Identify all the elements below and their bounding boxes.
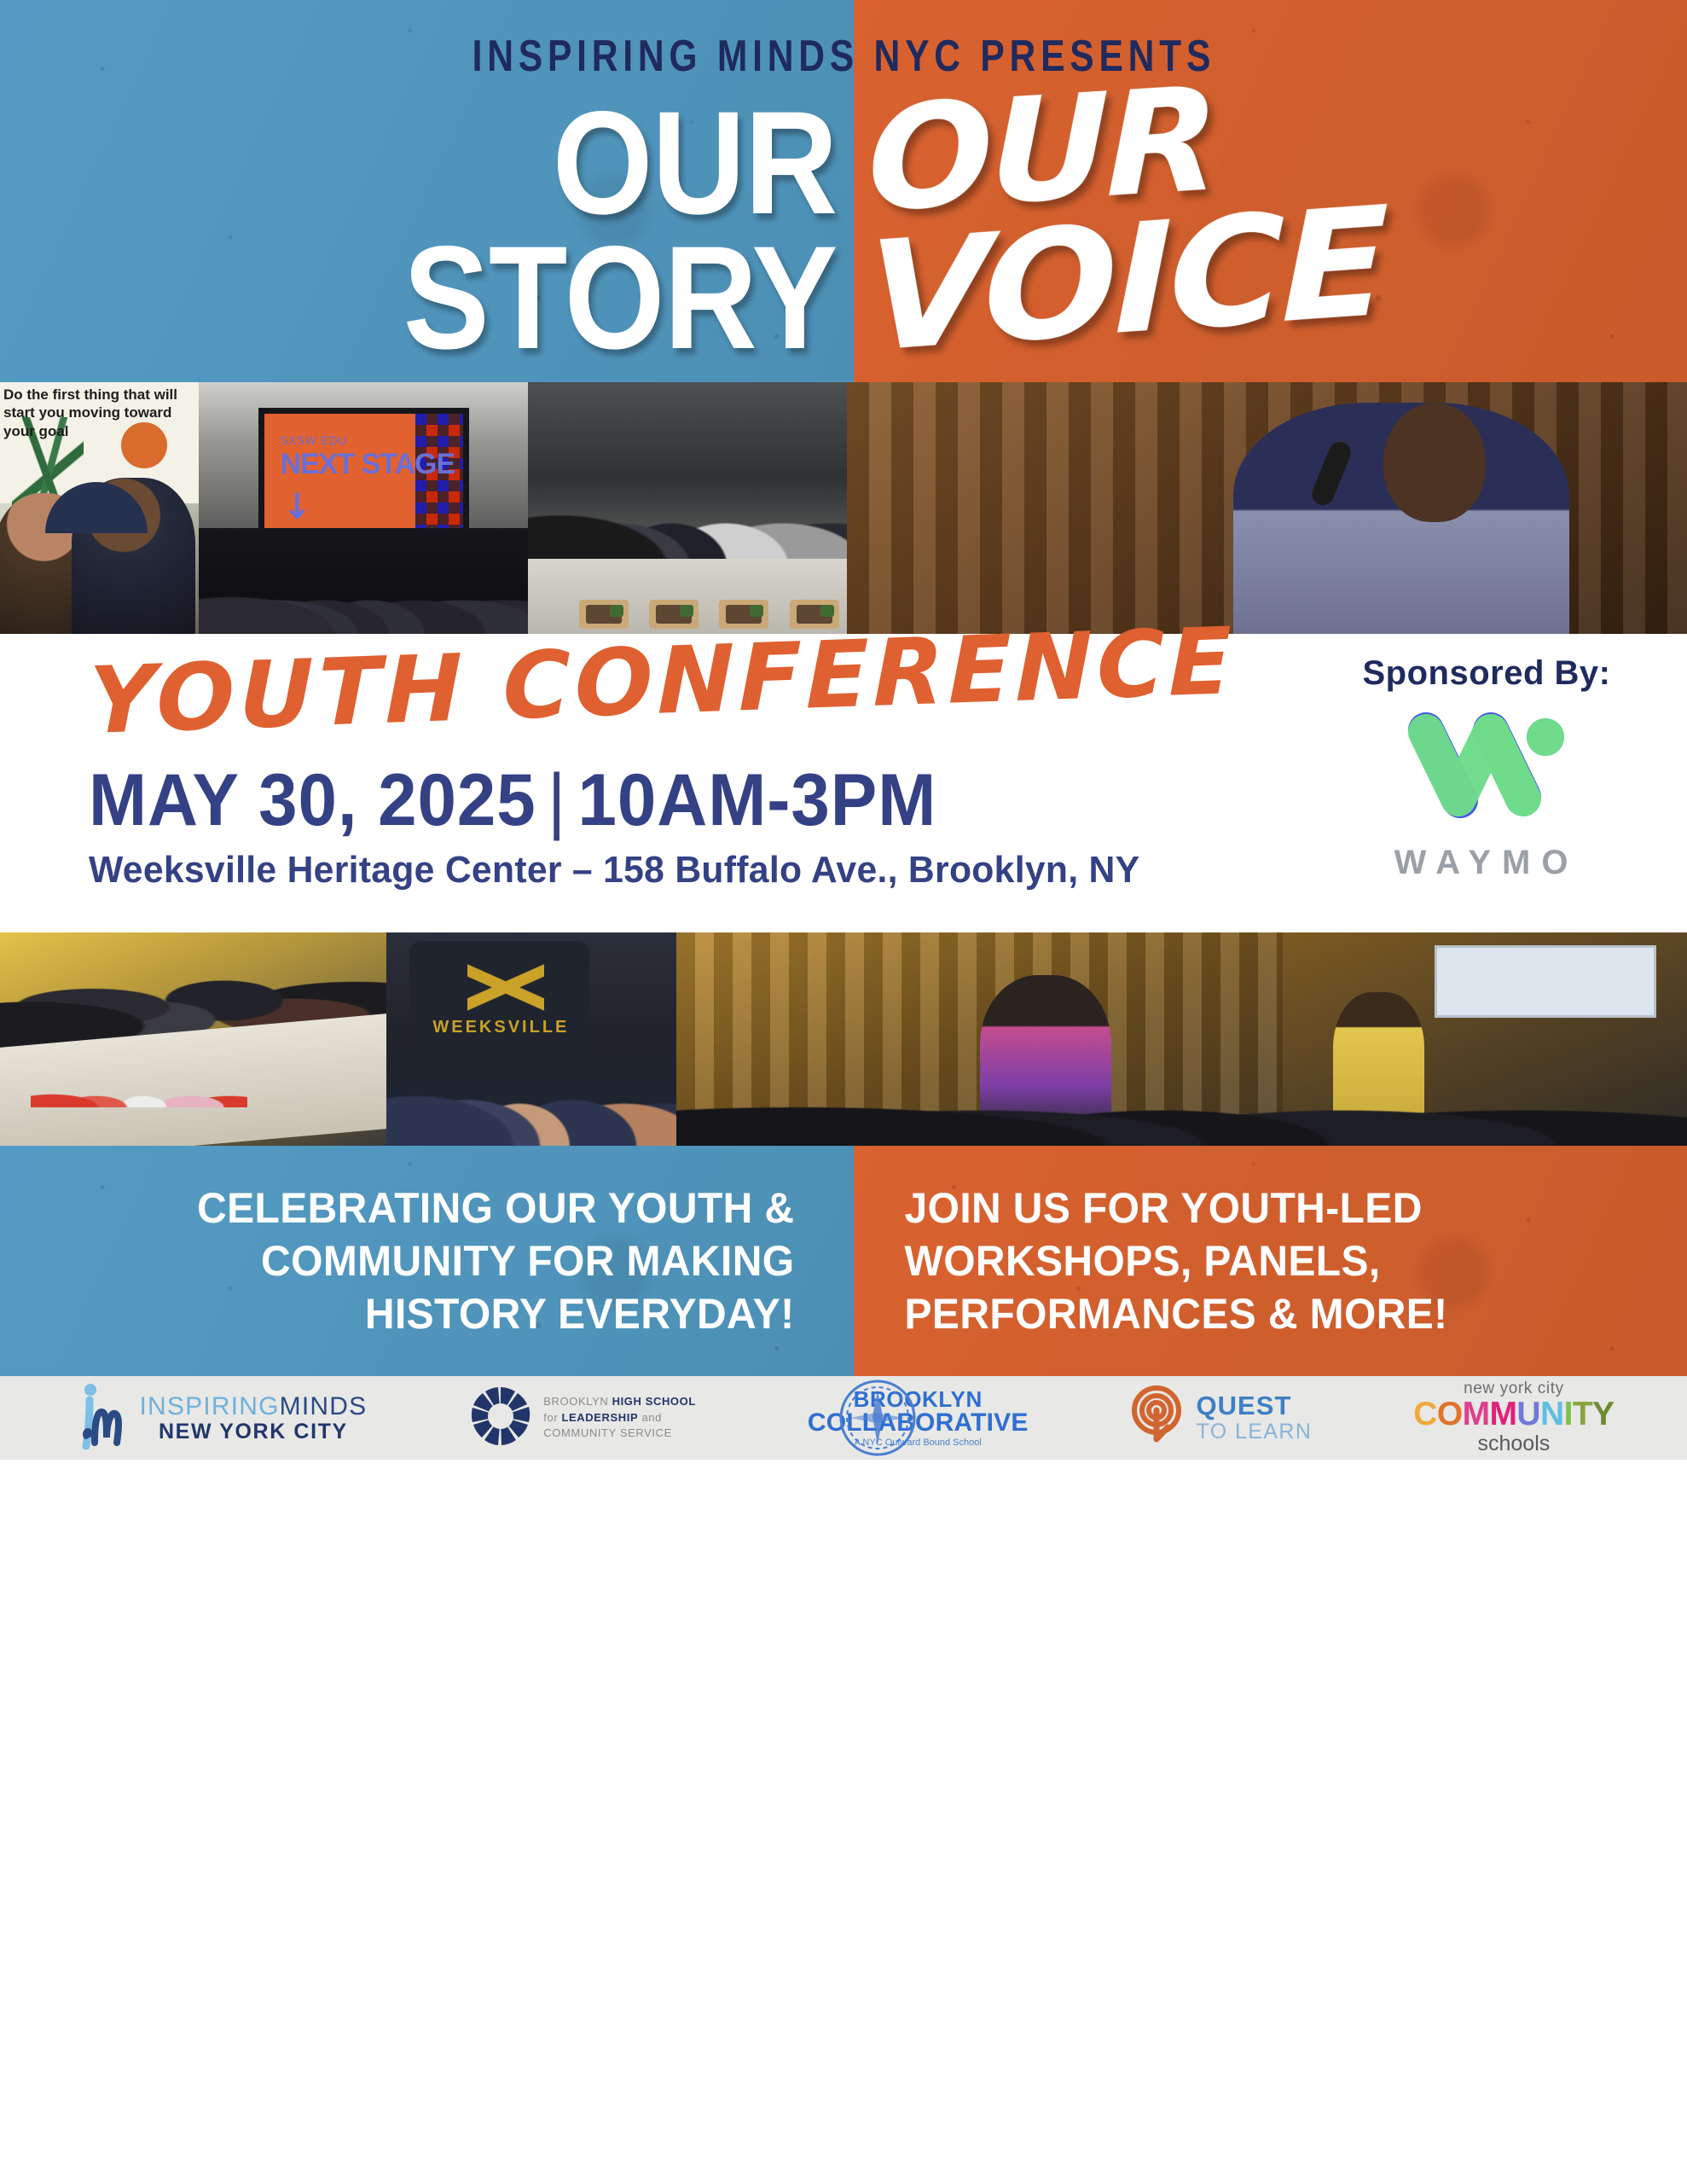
bhs-line2: for LEADERSHIP and — [543, 1410, 696, 1426]
event-time: 10AM-3PM — [577, 759, 936, 841]
bhs-line1: BROOKLYN HIGH SCHOOL — [543, 1394, 696, 1410]
title-row-2: STORY VOICE — [0, 230, 1687, 369]
cta-blue-panel: CELEBRATING OUR YOUTH & COMMUNITY FOR MA… — [0, 1146, 854, 1376]
cta-right-line-2: WORKSHOPS, PANELS, — [904, 1234, 1447, 1287]
poster-title: OUR OUR STORY VOICE — [0, 96, 1687, 369]
cta-banner: CELEBRATING OUR YOUTH & COMMUNITY FOR MA… — [0, 1146, 1687, 1376]
event-details-text: YOUTH CONFERENCE MAY 30, 2025|10AM-3PM W… — [0, 634, 1286, 892]
inspiring-minds-wordmark: INSPIRINGMINDS NEW YORK CITY — [139, 1393, 367, 1443]
photo-culinary-workshop — [528, 382, 847, 634]
sxsw-screen: SXSW EDU NEXT STAGE ↙ — [258, 408, 469, 543]
cta-left-line-1: CELEBRATING OUR YOUTH & — [197, 1182, 794, 1234]
quest-to-learn-spiral-icon — [1130, 1383, 1186, 1454]
food-plate — [579, 600, 629, 629]
bhs-line2-a: for — [543, 1411, 561, 1424]
venue-projector-screen — [1435, 945, 1657, 1018]
photo-strip-top: Do the first thing that will start you m… — [0, 382, 1687, 634]
bhs-line1-a: BROOKLYN — [543, 1395, 612, 1408]
sxsw-edu-label: SXSW EDU — [280, 433, 347, 447]
bhs-line1-b: HIGH SCHOOL — [612, 1395, 696, 1408]
bhs-line2-b: LEADERSHIP — [561, 1411, 638, 1424]
title-story: STORY — [102, 230, 854, 365]
sxsw-arrow-icon: ↙ — [272, 481, 320, 529]
community-schools-wordmark: new york city COMMUNITY schools — [1413, 1380, 1614, 1455]
culinary-participants — [528, 427, 847, 568]
logo-community-schools: new york city COMMUNITY schools — [1413, 1380, 1614, 1455]
q2l-line2: TO LEARN — [1197, 1420, 1313, 1443]
sxsw-group-silhouette — [199, 528, 528, 634]
hero-banner: INSPIRING MINDS NYC PRESENTS OUR OUR STO… — [0, 0, 1687, 382]
cta-right-line-1: JOIN US FOR YOUTH-LED — [904, 1182, 1447, 1234]
date-time-separator: | — [536, 759, 578, 841]
sponsor-block: Sponsored By: WAYMO — [1286, 634, 1687, 882]
cta-left-text: CELEBRATING OUR YOUTH & COMMUNITY FOR MA… — [197, 1182, 854, 1340]
im-line1-a: INSPIRING — [139, 1392, 279, 1420]
hero-text-overlay: INSPIRING MINDS NYC PRESENTS OUR OUR STO… — [0, 0, 1687, 382]
inspiring-minds-line1: INSPIRINGMINDS — [139, 1393, 367, 1420]
culinary-counter — [528, 559, 847, 635]
logo-quest-to-learn: QUEST TO LEARN — [1130, 1383, 1313, 1454]
speaker-head — [1383, 403, 1486, 522]
weeksville-group-people — [386, 1014, 676, 1146]
logo-brooklyn-high-school: BROOKLYN HIGH SCHOOL for LEADERSHIP and … — [468, 1384, 696, 1453]
inspiring-minds-monogram-icon — [72, 1383, 129, 1454]
photo-performance-audience — [676, 932, 1687, 1146]
photo-students-peace-sign: Do the first thing that will start you m… — [0, 382, 199, 634]
q2l-line1: QUEST — [1197, 1392, 1313, 1420]
conference-title: YOUTH CONFERENCE — [89, 614, 1286, 748]
photo-weeksville-group: WEEKSVILLE — [386, 932, 676, 1146]
inspiring-minds-line2: NEW YORK CITY — [139, 1420, 367, 1443]
bhs-line2-c: and — [638, 1411, 662, 1424]
brooklyn-high-school-burst-icon — [468, 1384, 533, 1453]
cta-left-line-3: HISTORY EVERYDAY! — [197, 1287, 794, 1340]
food-plate — [649, 600, 699, 629]
logo-inspiring-minds: INSPIRINGMINDS NEW YORK CITY — [72, 1383, 367, 1454]
workshop-supplies — [31, 1052, 247, 1107]
bhs-line3: COMMUNITY SERVICE — [543, 1426, 696, 1442]
event-details-band: YOUTH CONFERENCE MAY 30, 2025|10AM-3PM W… — [0, 634, 1687, 932]
cta-right-line-3: PERFORMANCES & MORE! — [904, 1287, 1447, 1340]
event-venue: Weeksville Heritage Center – 158 Buffalo… — [89, 849, 1250, 892]
photo-sxsw-next-stage: SXSW EDU NEXT STAGE ↙ — [199, 382, 528, 634]
cta-left-line-2: COMMUNITY FOR MAKING — [197, 1234, 794, 1287]
im-line1-b: MINDS — [280, 1392, 368, 1420]
photo-strip-bottom: WEEKSVILLE — [0, 932, 1687, 1146]
cs-line3: schools — [1413, 1432, 1614, 1455]
sxsw-next-stage-label: NEXT STAGE — [280, 448, 455, 481]
cs-line1: new york city — [1413, 1380, 1614, 1397]
waymo-wordmark: WAYMO — [1394, 844, 1580, 882]
audience-seating — [676, 1035, 1687, 1146]
event-date-time: MAY 30, 2025|10AM-3PM — [89, 764, 1226, 837]
photo-wall-caption: Do the first thing that will start you m… — [3, 386, 199, 440]
cs-line2: COMMUNITY — [1413, 1397, 1614, 1432]
title-our-left: OUR — [102, 96, 854, 230]
brooklyn-high-school-wordmark: BROOKLYN HIGH SCHOOL for LEADERSHIP and … — [543, 1394, 696, 1443]
event-date: MAY 30, 2025 — [89, 759, 536, 841]
cta-right-text: JOIN US FOR YOUTH-LED WORKSHOPS, PANELS,… — [854, 1182, 1448, 1340]
logo-brooklyn-collaborative: BROOKLYN COLLABORATIVE A NYC Outward Bou… — [797, 1388, 1029, 1448]
cta-orange-panel: JOIN US FOR YOUTH-LED WORKSHOPS, PANELS,… — [854, 1146, 1687, 1376]
photo-art-workshop — [0, 932, 386, 1146]
sponsored-by-label: Sponsored By: — [1363, 654, 1611, 693]
waymo-logo-icon — [1395, 705, 1579, 837]
photo-student-speaker — [847, 382, 1687, 634]
partner-logos-footer: INSPIRINGMINDS NEW YORK CITY — [0, 1376, 1687, 1460]
weeksville-logo-icon — [467, 954, 544, 1022]
quest-to-learn-wordmark: QUEST TO LEARN — [1197, 1392, 1313, 1443]
